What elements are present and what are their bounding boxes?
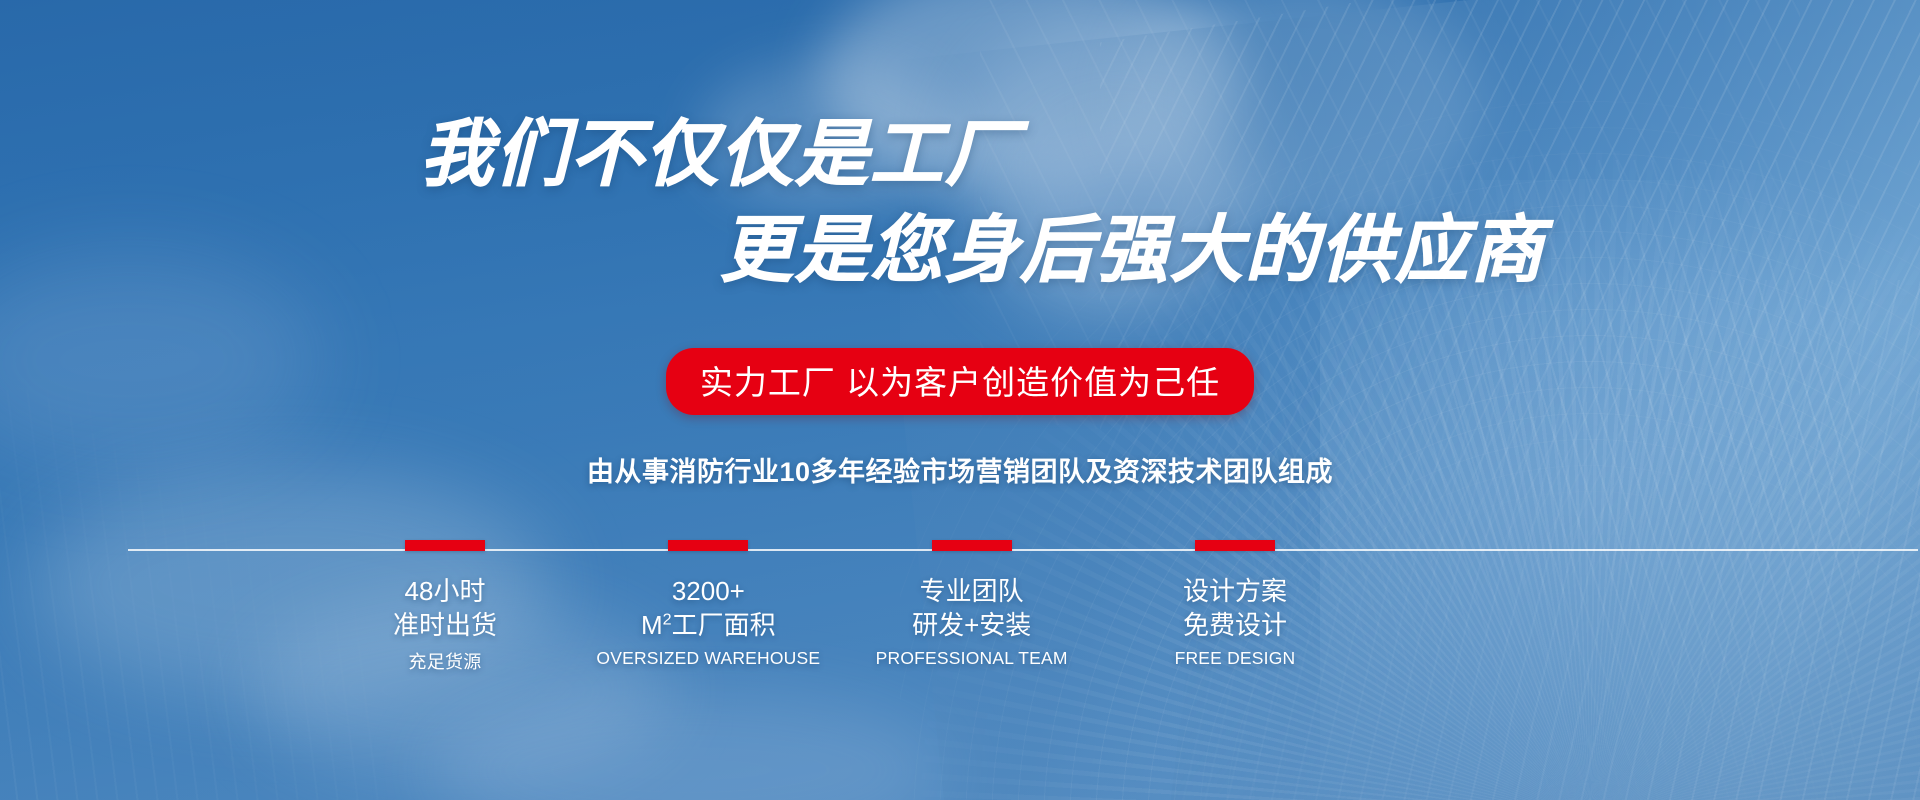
red-marker-bar (1195, 540, 1275, 551)
headline: 我们不仅仅是工厂 更是您身后强大的供应商 (0, 118, 1920, 289)
red-marker-bar (668, 540, 748, 551)
stat-line-1: 48小时 (330, 575, 560, 609)
stat-item: 设计方案 免费设计 FREE DESIGN (1120, 540, 1350, 674)
subtitle: 由从事消防行业10多年经验市场营销团队及资深技术团队组成 (0, 450, 1920, 489)
stat-line-1: 专业团队 (857, 575, 1087, 609)
banner-content: 我们不仅仅是工厂 更是您身后强大的供应商 实力工厂 以为客户创造价值为己任 由从… (0, 0, 1920, 800)
stat-line-2: M2工厂面积 (593, 609, 823, 643)
area-unit-prefix: M (641, 610, 663, 640)
stat-item: 48小时 准时出货 充足货源 (330, 540, 560, 674)
red-marker-bar (405, 540, 485, 551)
stat-item: 3200+ M2工厂面积 OVERSIZED WAREHOUSE (593, 540, 823, 674)
stat-line-2: 研发+安装 (857, 609, 1087, 643)
stat-line-1: 设计方案 (1120, 575, 1350, 609)
headline-line-2: 更是您身后强大的供应商 (0, 214, 1920, 288)
area-unit-superscript: 2 (663, 610, 672, 628)
badge-row: 实力工厂 以为客户创造价值为己任 (0, 348, 1920, 415)
stat-caption: 充足货源 (330, 648, 560, 674)
stat-line-1: 3200+ (593, 575, 823, 609)
stat-line-2: 免费设计 (1120, 609, 1350, 643)
stats-strip: 48小时 准时出货 充足货源 3200+ M2工厂面积 OVERSIZED WA… (330, 540, 1350, 674)
stat-caption: FREE DESIGN (1120, 648, 1350, 669)
hero-banner: 我们不仅仅是工厂 更是您身后强大的供应商 实力工厂 以为客户创造价值为己任 由从… (0, 0, 1920, 800)
area-unit-suffix: 工厂面积 (672, 610, 776, 640)
red-marker-bar (932, 540, 1012, 551)
stat-item: 专业团队 研发+安装 PROFESSIONAL TEAM (857, 540, 1087, 674)
stat-caption: PROFESSIONAL TEAM (857, 648, 1087, 669)
stat-line-2: 准时出货 (330, 609, 560, 643)
slogan-badge: 实力工厂 以为客户创造价值为己任 (666, 348, 1254, 415)
stat-caption: OVERSIZED WAREHOUSE (593, 648, 823, 669)
headline-line-1: 我们不仅仅是工厂 (0, 118, 1920, 192)
